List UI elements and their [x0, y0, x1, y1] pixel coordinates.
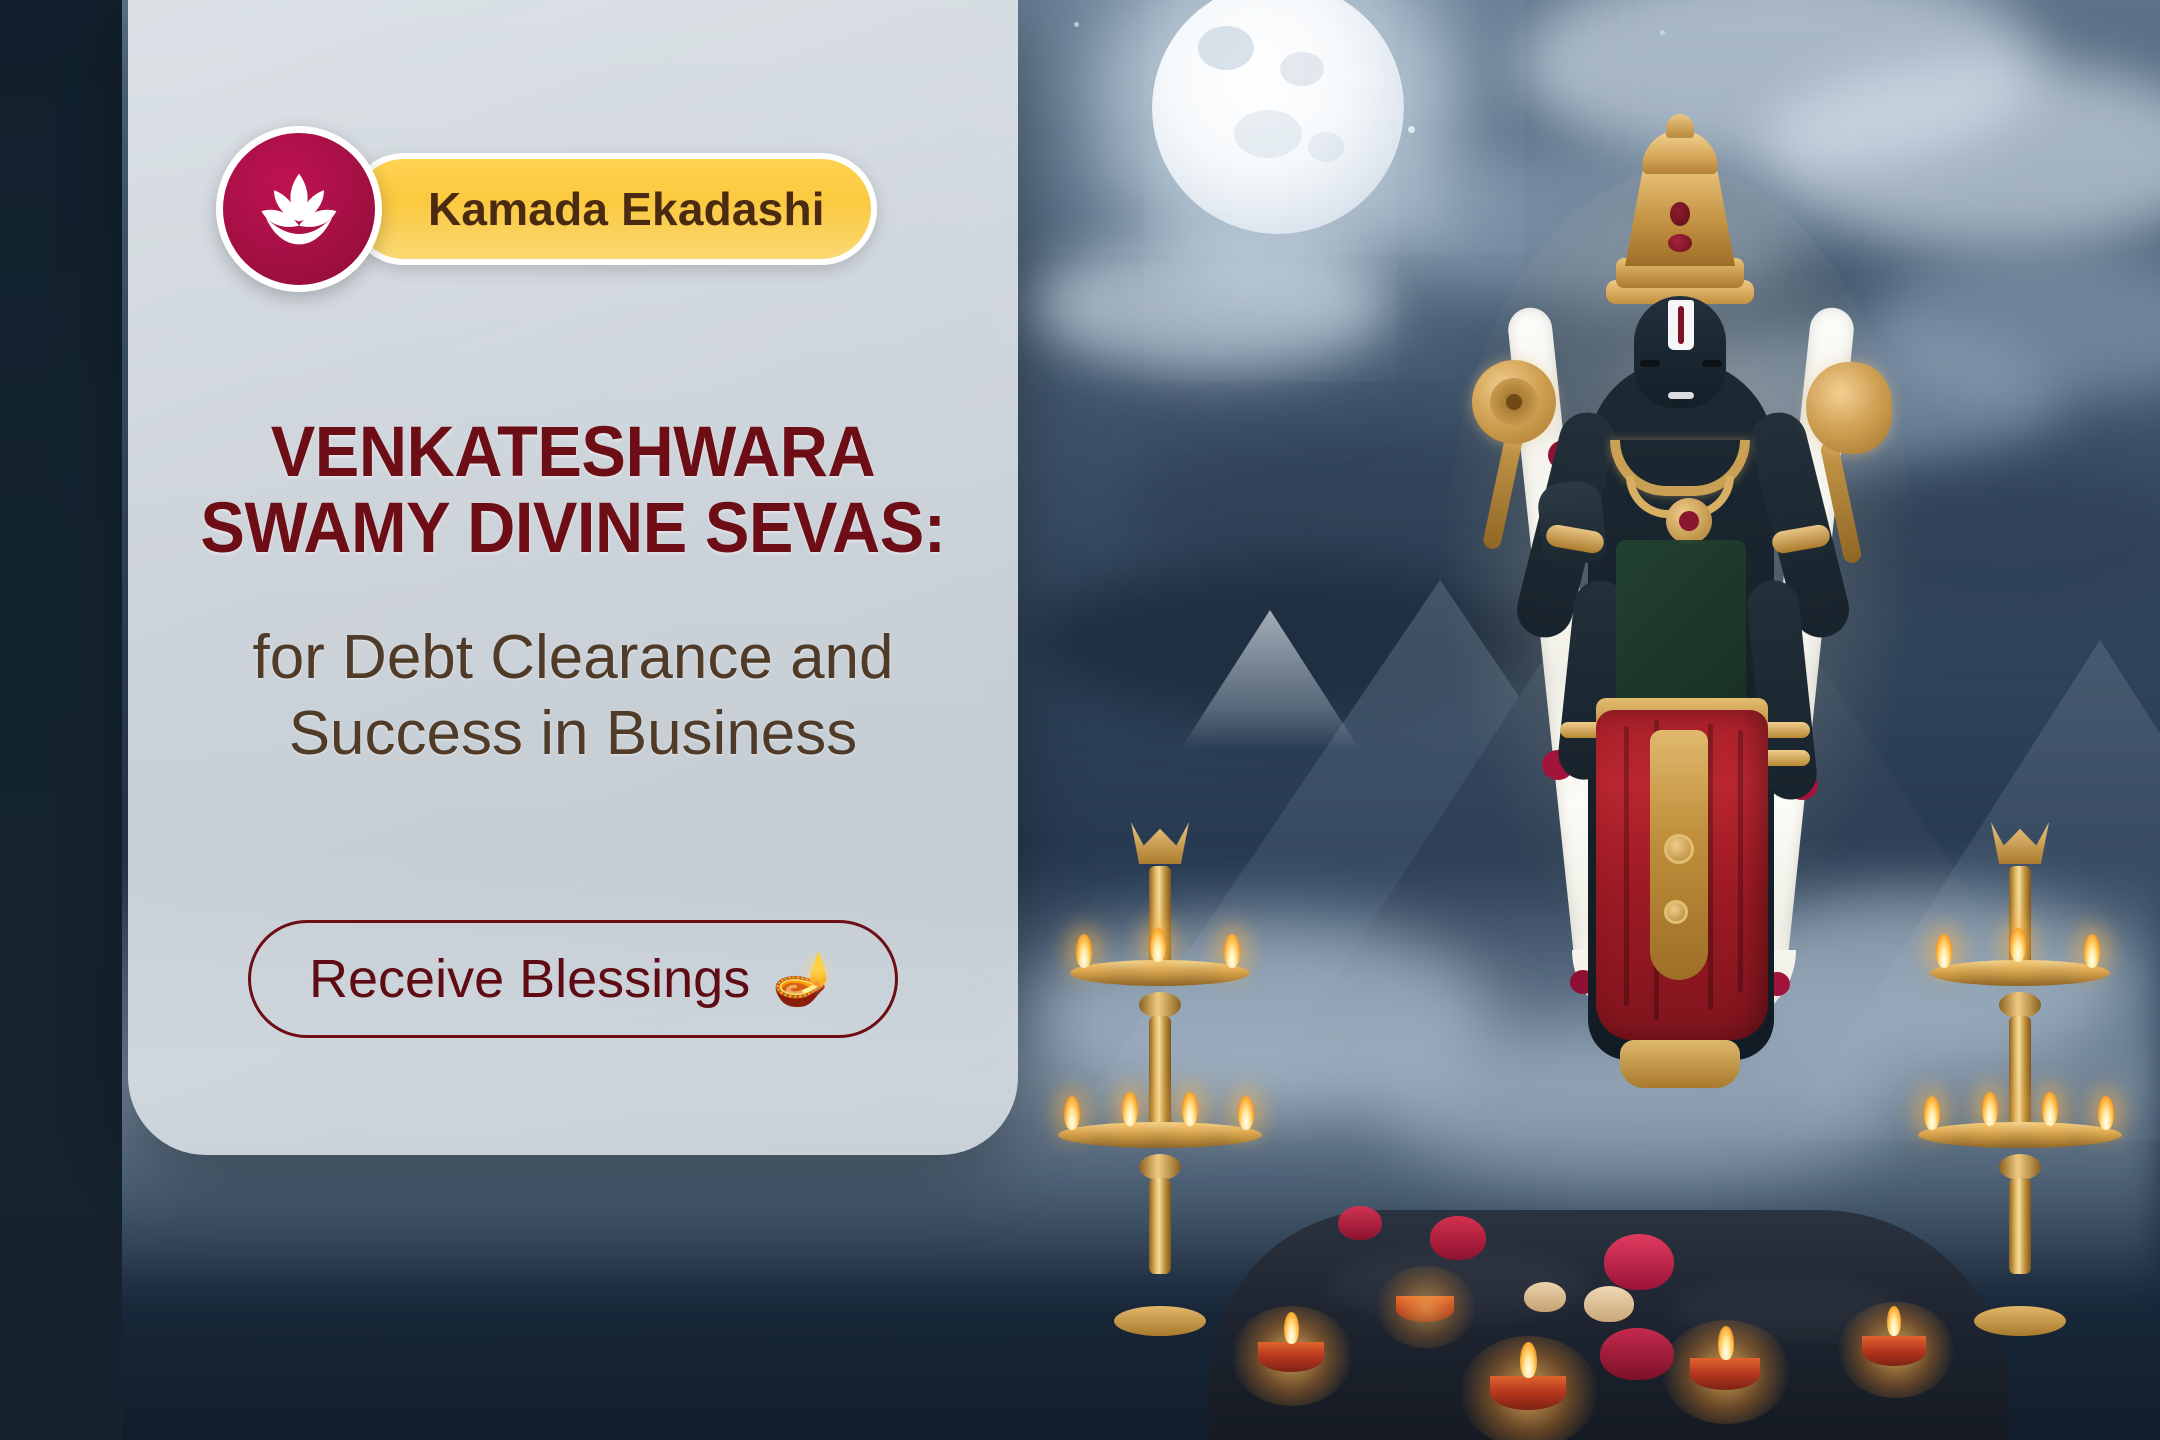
- star: [1074, 22, 1079, 27]
- idol-eye: [1702, 360, 1722, 367]
- banner-stage: Kamada Ekadashi VENKATESHWARA SWAMY DIVI…: [0, 0, 2160, 1440]
- page-subtitle: for Debt Clearance and Success in Busine…: [128, 620, 1018, 771]
- lamp-flame: [2042, 1092, 2058, 1126]
- cta-container: Receive Blessings 🪔: [128, 920, 1018, 1038]
- star: [1408, 126, 1415, 133]
- lamp-flame: [1122, 1092, 1138, 1126]
- lamp-flame: [2084, 934, 2100, 968]
- star: [1660, 30, 1665, 35]
- lamp-flame: [1150, 928, 1166, 962]
- left-edge-strip: [0, 0, 122, 1440]
- title-line-1: VENKATESHWARA: [198, 415, 948, 491]
- pendant: [1664, 900, 1688, 924]
- subtitle-line-2: Success in Business: [192, 696, 954, 772]
- crown-jewel: [1670, 202, 1690, 226]
- promo-card: Kamada Ekadashi VENKATESHWARA SWAMY DIVI…: [128, 0, 1018, 1155]
- festival-badge[interactable]: Kamada Ekadashi: [216, 126, 877, 292]
- lamp-flame: [1924, 1096, 1940, 1130]
- lamp-flame: [2098, 1096, 2114, 1130]
- subtitle-line-1: for Debt Clearance and: [192, 620, 954, 696]
- idol-feet: [1620, 1040, 1740, 1088]
- lamp-flame: [1982, 1092, 1998, 1126]
- lamp-flame: [1238, 1096, 1254, 1130]
- page-title: VENKATESHWARA SWAMY DIVINE SEVAS:: [128, 415, 1018, 567]
- idol-mouth: [1668, 392, 1694, 399]
- lotus-logo: [216, 126, 382, 292]
- crown-jewel: [1668, 234, 1692, 252]
- abhaya-mudra-hand: [1536, 479, 1608, 567]
- receive-blessings-button[interactable]: Receive Blessings 🪔: [248, 920, 898, 1038]
- lamp-flame: [1064, 1096, 1080, 1130]
- sudarshana-chakra-icon: [1472, 360, 1556, 444]
- festival-badge-pill[interactable]: Kamada Ekadashi: [348, 153, 877, 265]
- shankha-conch-icon: [1806, 362, 1892, 454]
- flower-petal: [1584, 1286, 1634, 1322]
- idol-eye: [1640, 360, 1660, 367]
- rose-petal: [1430, 1216, 1486, 1260]
- lamp-flame: [1182, 1092, 1198, 1126]
- brass-oil-lamp-right: [1920, 830, 2120, 1330]
- title-line-2: SWAMY DIVINE SEVAS:: [198, 491, 948, 567]
- venkateshwara-idol: [1420, 110, 1940, 1290]
- cloud: [1030, 240, 1390, 370]
- lamp-flame: [1224, 934, 1240, 968]
- lamp-flame: [1936, 934, 1952, 968]
- namam-tilak-stripe: [1678, 306, 1684, 344]
- lamp-flame: [1076, 934, 1092, 968]
- cta-label: Receive Blessings: [309, 948, 750, 1010]
- diya-lamp-icon: 🪔: [772, 953, 837, 1005]
- chest-medallion: [1666, 498, 1712, 544]
- rose-petal: [1600, 1328, 1674, 1380]
- crown-finial: [1666, 114, 1694, 138]
- rose-petal: [1604, 1234, 1674, 1290]
- brass-oil-lamp-left: [1060, 830, 1260, 1330]
- rose-petal: [1338, 1206, 1382, 1240]
- flower-petal: [1524, 1282, 1566, 1312]
- lotus-icon: [247, 157, 351, 261]
- festival-badge-label: Kamada Ekadashi: [428, 182, 825, 236]
- lamp-flame: [2010, 928, 2026, 962]
- pendant: [1664, 834, 1694, 864]
